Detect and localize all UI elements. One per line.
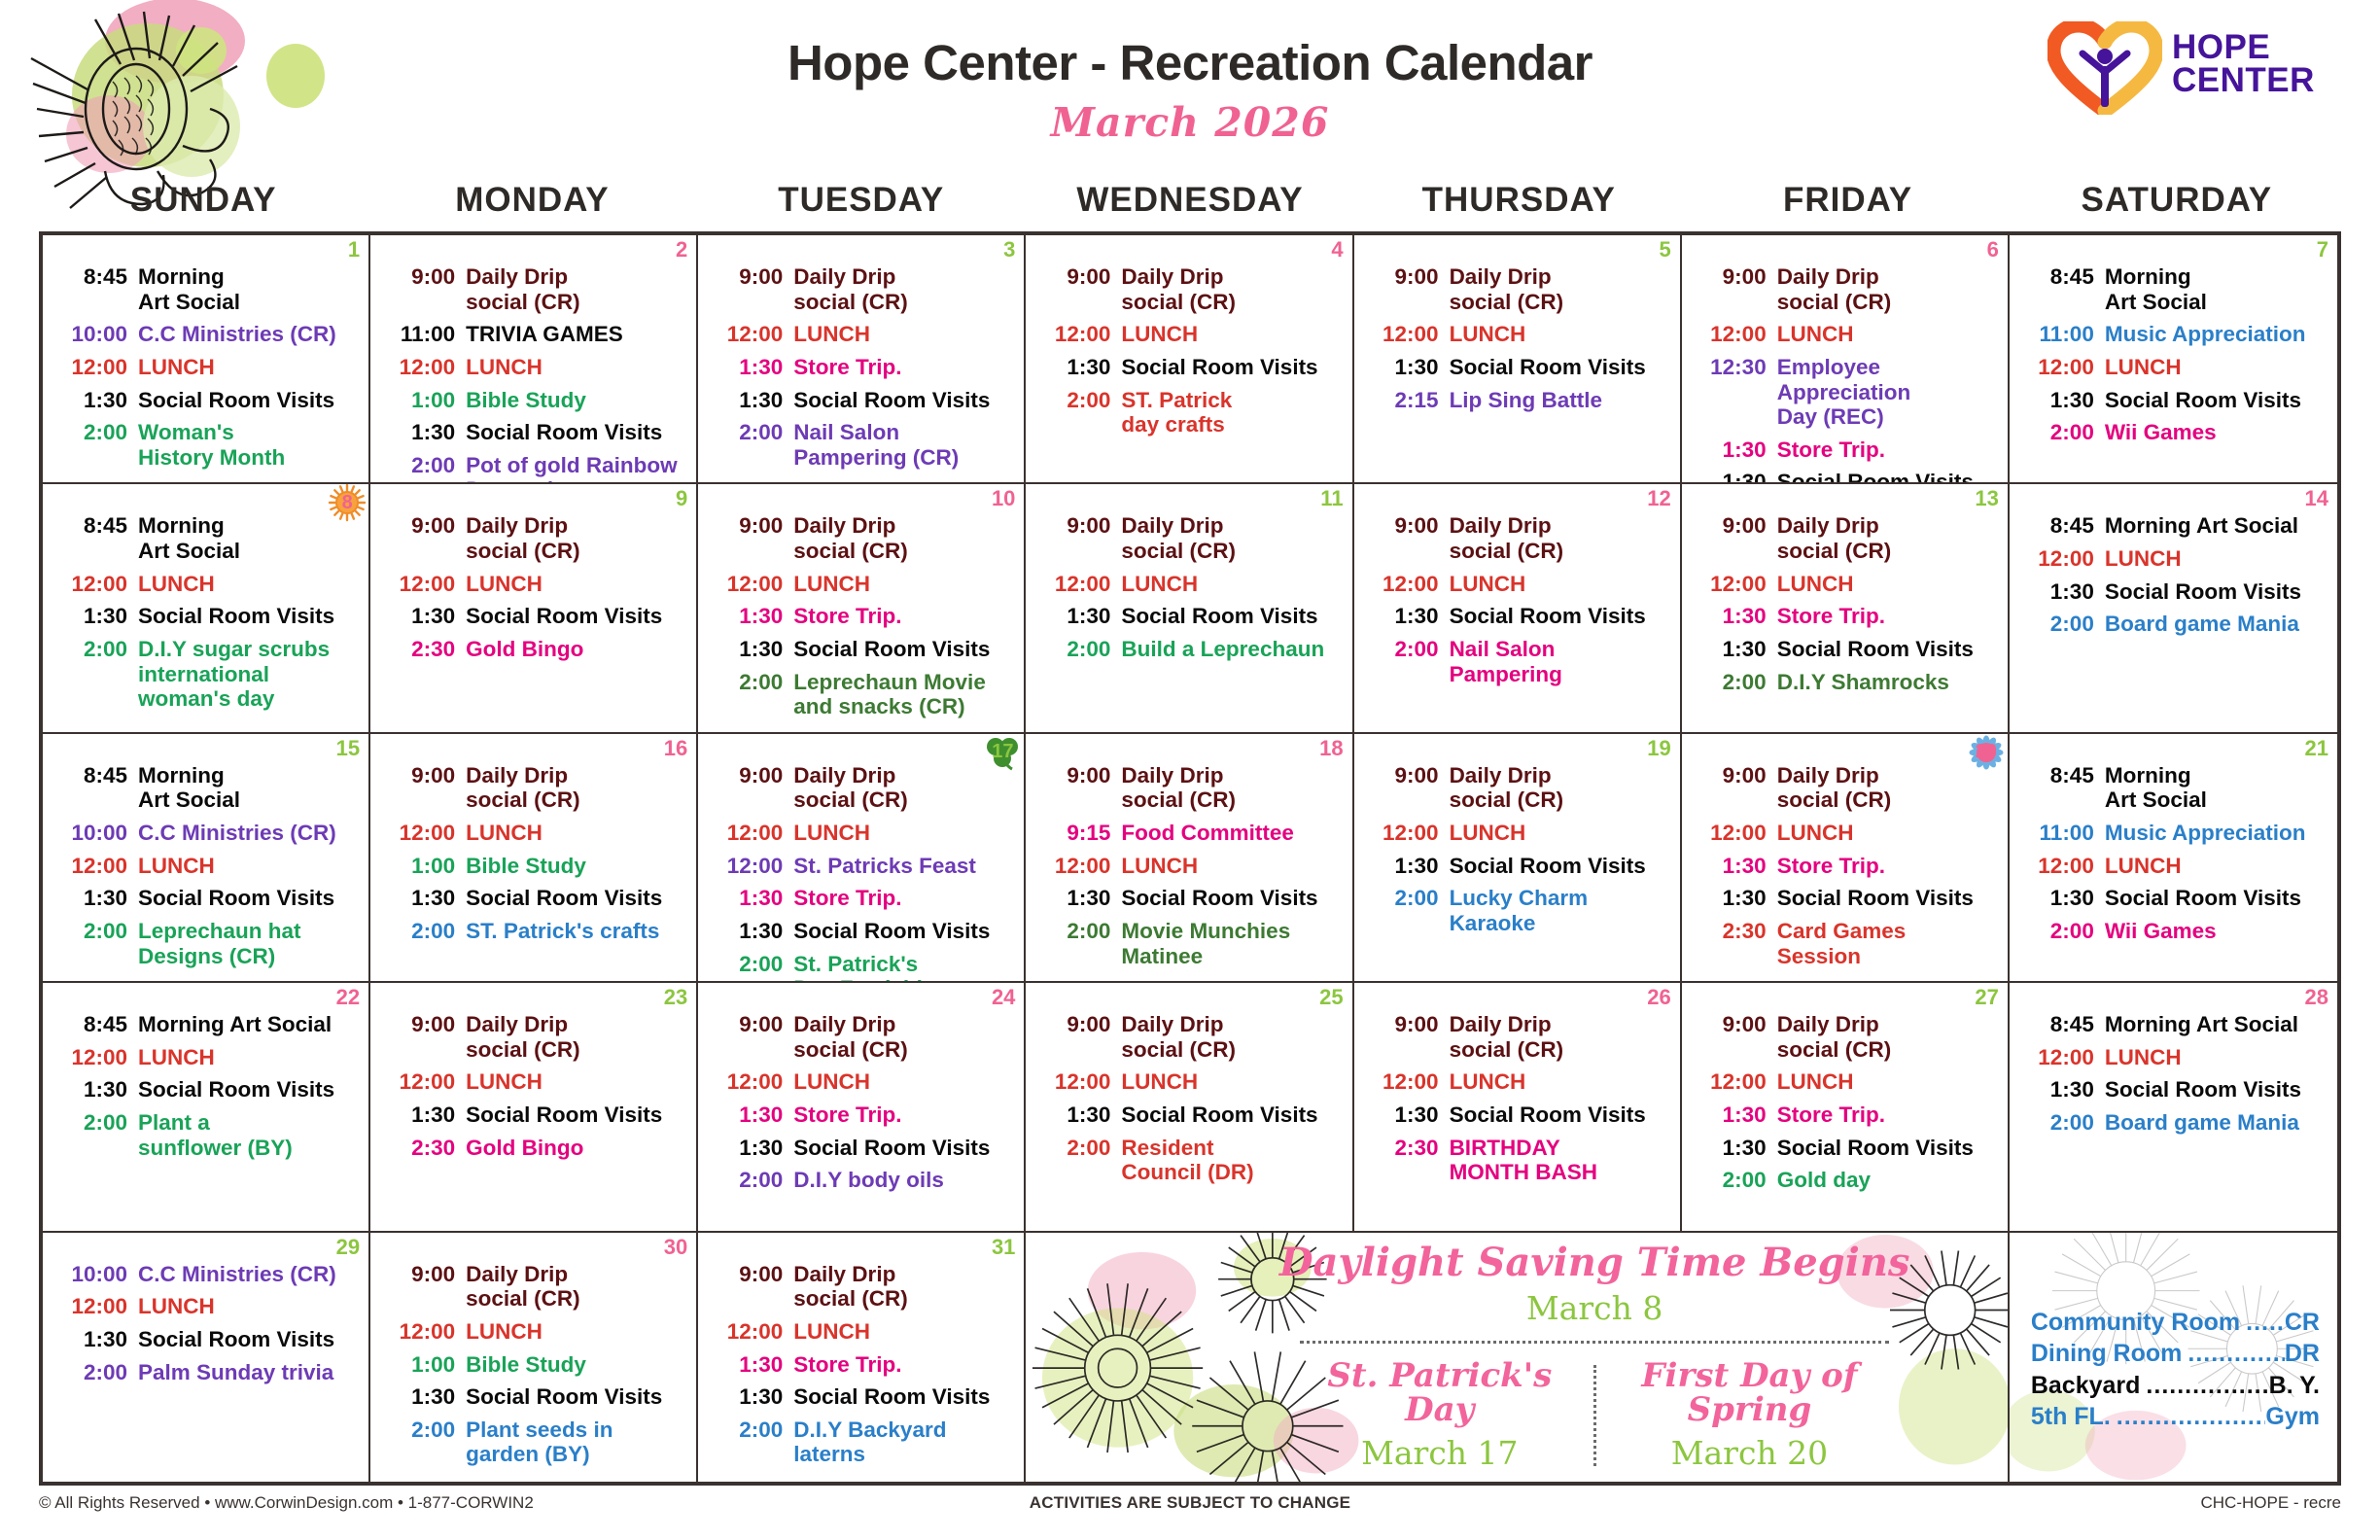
event-item[interactable]: 1:30Social Room Visits [52, 604, 359, 629]
logo-line-1: HOPE [2172, 31, 2315, 64]
event-item[interactable]: 8:45MorningArt Social [2019, 763, 2327, 813]
event-item[interactable]: 9:00Daily Dripsocial (CR) [380, 1012, 686, 1062]
day-event-list: 8:45MorningArt Social11:00Music Apprecia… [2019, 264, 2327, 445]
event-item[interactable]: 12:00LUNCH [1692, 1069, 1998, 1095]
calendar-day-cell[interactable]: 2910:00C.C Ministries (CR)12:00LUNCH1:30… [43, 1233, 370, 1482]
calendar-day-cell[interactable]: 39:00Daily Dripsocial (CR)12:00LUNCH1:30… [698, 235, 1026, 484]
event-description: Music Appreciation [2105, 821, 2327, 846]
calendar-day-cell[interactable]: 129:00Daily Dripsocial (CR)12:00LUNCH1:3… [1354, 484, 1682, 733]
calendar-day-cell[interactable]: 109:00Daily Dripsocial (CR)12:00LUNCH1:3… [698, 484, 1026, 733]
event-item[interactable]: 1:30Store Trip. [708, 604, 1014, 629]
event-item[interactable]: 1:30Social Room Visits [1035, 886, 1342, 911]
event-item[interactable]: 12:00LUNCH [52, 572, 359, 597]
legend-abbreviation: CR [2285, 1307, 2320, 1339]
event-item[interactable]: 8:45Morning Art Social [2019, 513, 2327, 539]
event-item[interactable]: 9:00Daily Dripsocial (CR) [1364, 1012, 1670, 1062]
event-item[interactable]: 1:30Social Room Visits [380, 1102, 686, 1128]
event-item[interactable]: 12:00LUNCH [52, 1045, 359, 1070]
calendar-day-cell[interactable]: 239:00Daily Dripsocial (CR)12:00LUNCH1:3… [370, 983, 698, 1232]
event-item[interactable]: 10:00C.C Ministries (CR) [52, 1262, 359, 1287]
event-item[interactable]: 1:30Social Room Visits [1364, 355, 1670, 380]
event-description: Morning Art Social [138, 1012, 359, 1037]
event-time: 1:30 [708, 1384, 793, 1410]
event-time: 12:00 [1035, 572, 1121, 597]
event-item[interactable]: 1:30Social Room Visits [708, 1384, 1014, 1410]
event-item[interactable]: 12:00LUNCH [1692, 821, 1998, 846]
event-description: Nail SalonPampering [1450, 637, 1670, 686]
calendar-day-cell[interactable]: 249:00Daily Dripsocial (CR)12:00LUNCH1:3… [698, 983, 1026, 1232]
event-item[interactable]: 10:00C.C Ministries (CR) [52, 322, 359, 347]
event-item[interactable]: 2:00Movie MunchiesMatinee [1035, 919, 1342, 968]
event-item[interactable]: 1:30Store Trip. [708, 355, 1014, 380]
event-time: 10:00 [52, 322, 138, 347]
calendar-day-cell[interactable]: 88:45MorningArt Social12:00LUNCH1:30Soci… [43, 484, 370, 733]
event-item[interactable]: 1:30Store Trip. [708, 886, 1014, 911]
event-item[interactable]: 2:00D.I.Y Backyardlaterns [708, 1417, 1014, 1467]
event-item[interactable]: 9:00Daily Dripsocial (CR) [1035, 264, 1342, 314]
event-description: Social Room Visits [1450, 355, 1670, 380]
event-item[interactable]: 12:00LUNCH [1035, 854, 1342, 879]
calendar-day-cell[interactable]: 78:45MorningArt Social11:00Music Appreci… [2010, 235, 2337, 484]
day-event-list: 9:00Daily Dripsocial (CR)12:00LUNCH1:30S… [1035, 1012, 1342, 1185]
special-events-panel: Daylight Saving Time BeginsMarch 8St. Pa… [1026, 1233, 2009, 1482]
event-item[interactable]: 11:00TRIVIA GAMES [380, 322, 686, 347]
event-item[interactable]: 9:00Daily Dripsocial (CR) [1692, 763, 1998, 813]
event-item[interactable]: 1:30Social Room Visits [1364, 854, 1670, 879]
event-item[interactable]: 2:00D.I.Y body oils [708, 1168, 1014, 1193]
event-time: 9:00 [380, 513, 466, 539]
event-item[interactable]: 2:00Wii Games [2019, 919, 2327, 944]
event-item[interactable]: 9:00Daily Dripsocial (CR) [708, 763, 1014, 813]
event-description: Social Room Visits [1121, 886, 1342, 911]
legend-dots: .................. [2140, 1370, 2268, 1402]
event-time: 8:45 [2019, 264, 2105, 290]
event-item[interactable]: 1:30Social Room Visits [1692, 886, 1998, 911]
calendar-day-cell[interactable]: 279:00Daily Dripsocial (CR)12:00LUNCH1:3… [1682, 983, 2010, 1232]
special-left-title: St. Patrick's Day [1300, 1359, 1580, 1428]
event-item[interactable]: 12:00LUNCH [708, 821, 1014, 846]
event-item[interactable]: 11:00Music Appreciation [2019, 821, 2327, 846]
event-item[interactable]: 9:00Daily Dripsocial (CR) [380, 264, 686, 314]
event-item[interactable]: 2:00Woman'sHistory Month [52, 420, 359, 470]
event-item[interactable]: 2:30Card GamesSession [1692, 919, 1998, 968]
event-item[interactable]: 2:00ST. Patrick's crafts [380, 919, 686, 944]
event-item[interactable]: 2:00Gold day [1692, 1168, 1998, 1193]
calendar-day-cell[interactable]: 99:00Daily Dripsocial (CR)12:00LUNCH1:30… [370, 484, 698, 733]
calendar-day-cell[interactable]: 139:00Daily Dripsocial (CR)12:00LUNCH1:3… [1682, 484, 2010, 733]
event-time: 9:00 [708, 1012, 793, 1037]
day-number: 15 [336, 738, 360, 759]
event-item[interactable]: 2:00Lucky CharmKaraoke [1364, 886, 1670, 935]
event-time: 9:00 [1035, 264, 1121, 290]
event-time: 9:00 [380, 264, 466, 290]
event-time: 12:00 [708, 322, 793, 347]
event-time: 1:00 [380, 854, 466, 879]
event-item[interactable]: 1:30Social Room Visits [708, 919, 1014, 944]
event-item[interactable]: 9:00Daily Dripsocial (CR) [1035, 763, 1342, 813]
calendar-day-cell[interactable]: 59:00Daily Dripsocial (CR)12:00LUNCH1:30… [1354, 235, 1682, 484]
event-time: 12:00 [708, 854, 793, 879]
event-item[interactable]: 1:30Social Room Visits [380, 1384, 686, 1410]
event-time: 8:45 [2019, 1012, 2105, 1037]
event-time: 1:30 [1692, 1102, 1777, 1128]
event-time: 1:30 [1035, 355, 1121, 380]
event-description: Social Room Visits [793, 919, 1014, 944]
event-item[interactable]: 1:00Bible Study [380, 1352, 686, 1378]
event-time: 12:00 [1692, 1069, 1777, 1095]
event-description: MorningArt Social [138, 763, 359, 813]
event-time: 1:30 [1364, 854, 1450, 879]
event-item[interactable]: 8:45MorningArt Social [52, 513, 359, 563]
event-time: 1:00 [380, 1352, 466, 1378]
calendar-day-cell[interactable]: 269:00Daily Dripsocial (CR)12:00LUNCH1:3… [1354, 983, 1682, 1232]
event-item[interactable]: 8:45Morning Art Social [52, 1012, 359, 1037]
event-description: Social Room Visits [1777, 1136, 1998, 1161]
event-item[interactable]: 9:00Daily Dripsocial (CR) [380, 763, 686, 813]
event-item[interactable]: 1:30Social Room Visits [1692, 637, 1998, 662]
event-time: 12:00 [1364, 572, 1450, 597]
event-time: 2:00 [1035, 1136, 1121, 1161]
event-description: C.C Ministries (CR) [138, 821, 359, 846]
calendar-day-cell[interactable]: 148:45Morning Art Social12:00LUNCH1:30So… [2010, 484, 2337, 733]
event-time: 2:00 [380, 453, 466, 478]
calendar-day-cell[interactable]: 119:00Daily Dripsocial (CR)12:00LUNCH1:3… [1026, 484, 1353, 733]
event-item[interactable]: 12:00LUNCH [708, 1069, 1014, 1095]
event-item[interactable]: 12:00LUNCH [380, 821, 686, 846]
calendar-day-cell[interactable]: 29:00Daily Dripsocial (CR)11:00TRIVIA GA… [370, 235, 698, 484]
event-item[interactable]: 1:30Social Room Visits [380, 604, 686, 629]
event-item[interactable]: 8:45MorningArt Social [52, 264, 359, 314]
event-description: LUNCH [138, 1294, 359, 1319]
calendar-day-cell[interactable]: 288:45Morning Art Social12:00LUNCH1:30So… [2010, 983, 2337, 1232]
calendar-day-cell[interactable]: 179:00Daily Dripsocial (CR)12:00LUNCH12:… [698, 734, 1026, 983]
calendar-day-cell[interactable]: 169:00Daily Dripsocial (CR)12:00LUNCH1:0… [370, 734, 698, 983]
day-number: 13 [1975, 488, 1998, 509]
event-description: Store Trip. [793, 355, 1014, 380]
event-item[interactable]: 9:00Daily Dripsocial (CR) [1035, 513, 1342, 563]
event-item[interactable]: 9:00Daily Dripsocial (CR) [708, 1012, 1014, 1062]
event-description: Store Trip. [1777, 604, 1998, 629]
event-item[interactable]: 12:00LUNCH [1035, 1069, 1342, 1095]
event-item[interactable]: 2:00Board game Mania [2019, 612, 2327, 637]
event-time: 1:30 [1364, 355, 1450, 380]
day-event-list: 9:00Daily Dripsocial (CR)12:00LUNCH1:30S… [708, 1262, 1014, 1467]
event-item[interactable]: 2:00Leprechaun hatDesigns (CR) [52, 919, 359, 968]
event-item[interactable]: 12:00LUNCH [708, 1319, 1014, 1345]
event-description: LUNCH [138, 854, 359, 879]
event-item[interactable]: 1:30Social Room Visits [52, 886, 359, 911]
day-number: 21 [2305, 738, 2328, 759]
event-time: 12:00 [380, 572, 466, 597]
event-description: Social Room Visits [138, 388, 359, 413]
event-item[interactable]: 2:00Nail SalonPampering [1364, 637, 1670, 686]
event-item[interactable]: 1:30Social Room Visits [708, 637, 1014, 662]
event-item[interactable]: 1:30Social Room Visits [52, 1327, 359, 1352]
event-time: 1:30 [52, 388, 138, 413]
event-description: Social Room Visits [1777, 886, 1998, 911]
event-time: 2:30 [1692, 919, 1777, 944]
event-item[interactable]: 8:45MorningArt Social [52, 763, 359, 813]
event-item[interactable]: 9:00Daily Dripsocial (CR) [708, 1262, 1014, 1312]
event-item[interactable]: 1:30Social Room Visits [708, 1136, 1014, 1161]
calendar-day-cell[interactable]: 69:00Daily Dripsocial (CR)12:00LUNCH12:3… [1682, 235, 2010, 484]
event-item[interactable]: 9:00Daily Dripsocial (CR) [708, 264, 1014, 314]
event-item[interactable]: 9:00Daily Dripsocial (CR) [1692, 1012, 1998, 1062]
day-number: 29 [336, 1237, 360, 1258]
day-event-list: 9:00Daily Dripsocial (CR)12:00LUNCH1:30S… [708, 264, 1014, 470]
event-description: LUNCH [138, 355, 359, 380]
event-time: 12:00 [1035, 322, 1121, 347]
event-item[interactable]: 12:00LUNCH [380, 1069, 686, 1095]
event-item[interactable]: 12:00LUNCH [1035, 572, 1342, 597]
event-item[interactable]: 1:30Store Trip. [1692, 604, 1998, 629]
day-number: 28 [2305, 987, 2328, 1008]
calendar-day-cell[interactable]: 259:00Daily Dripsocial (CR)12:00LUNCH1:3… [1026, 983, 1353, 1232]
day-number: 17 [983, 734, 1022, 772]
event-item[interactable]: 2:00Pot of gold RainbowDecoration [380, 453, 686, 485]
event-time: 1:30 [52, 1327, 138, 1352]
event-description: LUNCH [793, 572, 1014, 597]
event-item[interactable]: 12:00LUNCH [1692, 322, 1998, 347]
calendar-day-cell[interactable]: 309:00Daily Dripsocial (CR)12:00LUNCH1:0… [370, 1233, 698, 1482]
calendar-day-cell[interactable]: 189:00Daily Dripsocial (CR)9:15Food Comm… [1026, 734, 1353, 983]
event-item[interactable]: 12:00LUNCH [1364, 1069, 1670, 1095]
event-item[interactable]: 1:30Social Room Visits [2019, 579, 2327, 605]
event-item[interactable]: 1:30Social Room Visits [1692, 1136, 1998, 1161]
calendar-day-cell[interactable]: 18:45MorningArt Social10:00C.C Ministrie… [43, 235, 370, 484]
weekday-label-tuesday: TUESDAY [697, 181, 1026, 220]
event-item[interactable]: 12:00LUNCH [1364, 322, 1670, 347]
calendar-day-cell[interactable]: 228:45Morning Art Social12:00LUNCH1:30So… [43, 983, 370, 1232]
event-description: Daily Dripsocial (CR) [1450, 513, 1670, 563]
event-item[interactable]: 8:45Morning Art Social [2019, 1012, 2327, 1037]
event-description: Social Room Visits [466, 1384, 686, 1410]
event-description: MorningArt Social [138, 264, 359, 314]
event-description: Social Room Visits [1450, 1102, 1670, 1128]
event-item[interactable]: 12:00LUNCH [708, 572, 1014, 597]
event-time: 1:30 [2019, 388, 2105, 413]
day-number: 20 [1967, 734, 2006, 772]
event-item[interactable]: 11:00Music Appreciation [2019, 322, 2327, 347]
event-item[interactable]: 2:00D.I.Y sugar scrubsinternationalwoman… [52, 637, 359, 712]
event-item[interactable]: 12:00LUNCH [52, 355, 359, 380]
calendar-day-cell[interactable]: 49:00Daily Dripsocial (CR)12:00LUNCH1:30… [1026, 235, 1353, 484]
event-item[interactable]: 9:00Daily Dripsocial (CR) [380, 513, 686, 563]
event-item[interactable]: 1:30Store Trip. [1692, 1102, 1998, 1128]
event-time: 9:00 [708, 763, 793, 788]
legend-abbreviation: B. Y. [2269, 1370, 2320, 1402]
weekday-label-sunday: SUNDAY [39, 181, 367, 220]
event-item[interactable]: 12:00LUNCH [1035, 322, 1342, 347]
event-item[interactable]: 9:00Daily Dripsocial (CR) [708, 513, 1014, 563]
event-time: 2:00 [380, 919, 466, 944]
calendar-day-cell[interactable]: 209:00Daily Dripsocial (CR)12:00LUNCH1:3… [1682, 734, 2010, 983]
event-item[interactable]: 1:00Bible Study [380, 388, 686, 413]
event-item[interactable]: 2:30Gold Bingo [380, 637, 686, 662]
event-item[interactable]: 1:30Social Room Visits [1035, 355, 1342, 380]
event-description: Daily Dripsocial (CR) [793, 1012, 1014, 1062]
event-item[interactable]: 9:00Daily Dripsocial (CR) [1692, 513, 1998, 563]
event-item[interactable]: 1:30Social Room Visits [1035, 1102, 1342, 1128]
event-item[interactable]: 12:30EmployeeAppreciationDay (REC) [1692, 355, 1998, 430]
event-description: ResidentCouncil (DR) [1121, 1136, 1342, 1185]
event-time: 9:00 [1692, 264, 1777, 290]
event-item[interactable]: 2:00Build a Leprechaun [1035, 637, 1342, 662]
event-description: LUNCH [1121, 1069, 1342, 1095]
event-item[interactable]: 9:00Daily Dripsocial (CR) [380, 1262, 686, 1312]
event-item[interactable]: 1:30Social Room Visits [1692, 470, 1998, 484]
event-description: Bible Study [466, 854, 686, 879]
event-item[interactable]: 12:00LUNCH [52, 854, 359, 879]
event-item[interactable]: 1:30Social Room Visits [380, 420, 686, 445]
event-description: Daily Dripsocial (CR) [1777, 513, 1998, 563]
day-number: 7 [2317, 239, 2328, 261]
event-description: Plant asunflower (BY) [138, 1110, 359, 1160]
event-item[interactable]: 2:00Nail SalonPampering (CR) [708, 420, 1014, 470]
event-time: 9:00 [380, 1262, 466, 1287]
day-event-list: 9:00Daily Dripsocial (CR)12:00LUNCH1:30S… [1364, 264, 1670, 412]
event-item[interactable]: 12:00LUNCH [380, 355, 686, 380]
event-item[interactable]: 9:15Food Committee [1035, 821, 1342, 846]
event-item[interactable]: 1:30Social Room Visits [708, 388, 1014, 413]
shamrock-icon: 17 [983, 734, 1022, 772]
event-time: 1:30 [708, 604, 793, 629]
event-item[interactable]: 2:00Plant asunflower (BY) [52, 1110, 359, 1160]
event-description: Social Room Visits [2105, 1077, 2327, 1102]
event-description: Lip Sing Battle [1450, 388, 1670, 413]
event-time: 12:00 [1035, 854, 1121, 879]
event-description: Store Trip. [1777, 1102, 1998, 1128]
event-description: Social Room Visits [466, 420, 686, 445]
event-time: 12:00 [380, 355, 466, 380]
event-item[interactable]: 2:00St. Patrick'sDay Festivities [708, 952, 1014, 984]
event-item[interactable]: 2:00Palm Sunday trivia [52, 1360, 359, 1385]
event-item[interactable]: 2:00D.I.Y Shamrocks [1692, 670, 1998, 695]
day-number: 9 [676, 488, 687, 509]
event-item[interactable]: 2:15Lip Sing Battle [1364, 388, 1670, 413]
event-time: 1:30 [1692, 437, 1777, 463]
event-time: 12:00 [708, 572, 793, 597]
event-item[interactable]: 2:30Gold Bingo [380, 1136, 686, 1161]
event-item[interactable]: 8:45MorningArt Social [2019, 264, 2327, 314]
event-time: 2:00 [708, 670, 793, 695]
calendar-day-cell[interactable]: 319:00Daily Dripsocial (CR)12:00LUNCH1:3… [698, 1233, 1026, 1482]
event-item[interactable]: 1:00Bible Study [380, 854, 686, 879]
event-item[interactable]: 12:00LUNCH [2019, 854, 2327, 879]
event-item[interactable]: 9:00Daily Dripsocial (CR) [1364, 513, 1670, 563]
event-item[interactable]: 1:30Social Room Visits [2019, 388, 2327, 413]
legend-dots: ..... [2240, 1307, 2285, 1339]
event-item[interactable]: 10:00C.C Ministries (CR) [52, 821, 359, 846]
day-number: 24 [992, 987, 1015, 1008]
event-item[interactable]: 12:00LUNCH [1364, 821, 1670, 846]
event-item[interactable]: 1:30Store Trip. [1692, 854, 1998, 879]
event-item[interactable]: 12:00LUNCH [2019, 355, 2327, 380]
event-description: EmployeeAppreciationDay (REC) [1777, 355, 1998, 430]
event-item[interactable]: 1:30Store Trip. [708, 1102, 1014, 1128]
event-description: Music Appreciation [2105, 322, 2327, 347]
page-footer: © All Rights Reserved • www.CorwinDesign… [39, 1493, 2341, 1532]
event-item[interactable]: 9:00Daily Dripsocial (CR) [1035, 1012, 1342, 1062]
calendar-day-cell[interactable]: 199:00Daily Dripsocial (CR)12:00LUNCH1:3… [1354, 734, 1682, 983]
event-item[interactable]: 12:00LUNCH [1364, 572, 1670, 597]
event-item[interactable]: 2:00Board game Mania [2019, 1110, 2327, 1136]
event-item[interactable]: 1:30Social Room Visits [2019, 886, 2327, 911]
event-description: LUNCH [1777, 572, 1998, 597]
event-item[interactable]: 2:00Plant seeds ingarden (BY) [380, 1417, 686, 1467]
event-item[interactable]: 12:00LUNCH [2019, 546, 2327, 572]
event-description: LUNCH [2105, 1045, 2327, 1070]
event-description: Plant seeds ingarden (BY) [466, 1417, 686, 1467]
day-event-list: 9:00Daily Dripsocial (CR)12:00LUNCH1:30S… [1035, 264, 1342, 437]
event-time: 2:00 [52, 1360, 138, 1385]
event-item[interactable]: 1:30Social Room Visits [1364, 604, 1670, 629]
event-item[interactable]: 12:00LUNCH [708, 322, 1014, 347]
event-item[interactable]: 1:30Social Room Visits [52, 1077, 359, 1102]
event-item[interactable]: 2:00Wii Games [2019, 420, 2327, 445]
event-item[interactable]: 12:00St. Patricks Feast [708, 854, 1014, 879]
event-time: 12:00 [1364, 1069, 1450, 1095]
event-item[interactable]: 1:30Social Room Visits [380, 886, 686, 911]
calendar-day-cell[interactable]: 218:45MorningArt Social11:00Music Apprec… [2010, 734, 2337, 983]
calendar-day-cell[interactable]: 158:45MorningArt Social10:00C.C Ministri… [43, 734, 370, 983]
event-item[interactable]: 1:30Social Room Visits [2019, 1077, 2327, 1102]
event-item[interactable]: 12:00LUNCH [52, 1294, 359, 1319]
event-item[interactable]: 2:30BIRTHDAYMONTH BASH [1364, 1136, 1670, 1185]
event-item[interactable]: 1:30Social Room Visits [1364, 1102, 1670, 1128]
event-description: Daily Dripsocial (CR) [1121, 513, 1342, 563]
event-time: 2:00 [708, 420, 793, 445]
day-number: 4 [1331, 239, 1343, 261]
event-item[interactable]: 12:00LUNCH [380, 572, 686, 597]
event-description: LUNCH [1450, 821, 1670, 846]
event-item[interactable]: 1:30Store Trip. [708, 1352, 1014, 1378]
event-item[interactable]: 2:00Leprechaun Movieand snacks (CR) [708, 670, 1014, 719]
event-item[interactable]: 12:00LUNCH [380, 1319, 686, 1345]
event-item[interactable]: 2:00ResidentCouncil (DR) [1035, 1136, 1342, 1185]
event-item[interactable]: 1:30Store Trip. [1692, 437, 1998, 463]
event-description: Daily Dripsocial (CR) [466, 264, 686, 314]
day-number: 5 [1659, 239, 1670, 261]
event-description: LUNCH [466, 355, 686, 380]
event-item[interactable]: 12:00LUNCH [1692, 572, 1998, 597]
event-item[interactable]: 2:00ST. Patrickday crafts [1035, 388, 1342, 437]
event-time: 12:00 [708, 1069, 793, 1095]
event-description: Nail SalonPampering (CR) [793, 420, 1014, 470]
event-time: 12:00 [1692, 572, 1777, 597]
event-time: 2:00 [52, 1110, 138, 1136]
day-event-list: 8:45MorningArt Social11:00Music Apprecia… [2019, 763, 2327, 944]
event-item[interactable]: 1:30Social Room Visits [1035, 604, 1342, 629]
day-event-list: 9:00Daily Dripsocial (CR)12:00LUNCH1:30S… [708, 513, 1014, 718]
event-item[interactable]: 9:00Daily Dripsocial (CR) [1692, 264, 1998, 314]
event-item[interactable]: 9:00Daily Dripsocial (CR) [1364, 763, 1670, 813]
event-time: 8:45 [52, 1012, 138, 1037]
legend-abbreviation: DR [2285, 1338, 2320, 1370]
logo-line-2: CENTER [2172, 64, 2315, 97]
event-description: LUNCH [466, 821, 686, 846]
event-item[interactable]: 9:00Daily Dripsocial (CR) [1364, 264, 1670, 314]
day-number: 14 [2305, 488, 2328, 509]
event-description: Daily Dripsocial (CR) [466, 1262, 686, 1312]
event-item[interactable]: 1:30Social Room Visits [52, 388, 359, 413]
event-item[interactable]: 12:00LUNCH [2019, 1045, 2327, 1070]
event-time: 1:00 [380, 388, 466, 413]
legend-label: Dining Room [2031, 1338, 2183, 1370]
day-number: 31 [992, 1237, 1015, 1258]
event-time: 12:00 [1035, 1069, 1121, 1095]
heart-person-logo-icon [2047, 21, 2162, 115]
